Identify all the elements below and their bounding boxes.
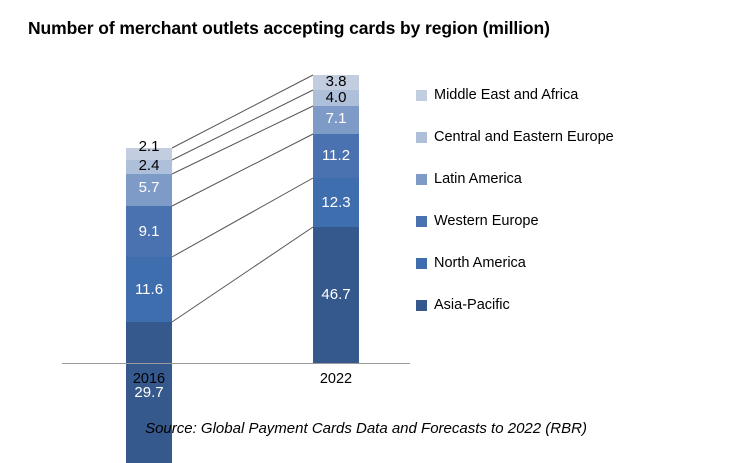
bar-segment-north-america[interactable]: 11.6 (126, 257, 172, 322)
axis-category-label-2022: 2022 (291, 371, 381, 387)
bar-segment-value: 2.4 (126, 158, 172, 173)
bar-stack-2022[interactable]: 3.8 4.0 7.1 11.2 12.3 46.7 (313, 75, 359, 363)
legend-swatch-icon (416, 300, 427, 311)
bar-segment-latin-america[interactable]: 7.1 (313, 106, 359, 134)
axis-category-label-2016: 2016 (104, 371, 194, 387)
bar-segment-central-and-eastern-europe[interactable]: 2.4 (126, 160, 172, 174)
bar-segment-western-europe[interactable]: 9.1 (126, 206, 172, 257)
legend-item-latin-america[interactable]: Latin America (416, 172, 614, 186)
legend-item-asia-pacific[interactable]: Asia-Pacific (416, 298, 614, 312)
bar-segment-value: 11.2 (313, 148, 359, 163)
legend-item-label: North America (434, 255, 526, 271)
bar-segment-latin-america[interactable]: 5.7 (126, 174, 172, 206)
legend-item-label: Middle East and Africa (434, 87, 578, 103)
stacked-bar-chart: Number of merchant outlets accepting car… (0, 0, 732, 454)
bar-stack-2016[interactable]: 2.1 2.4 5.7 9.1 11.6 29.7 (126, 148, 172, 463)
legend-swatch-icon (416, 132, 427, 143)
bar-segment-value: 4.0 (313, 90, 359, 105)
chart-legend: Middle East and Africa Central and Easte… (416, 88, 614, 340)
legend-item-label: Central and Eastern Europe (434, 129, 614, 145)
series-connector-lines (0, 0, 732, 400)
bar-segment-middle-east-and-africa[interactable]: 3.8 (313, 75, 359, 90)
bar-segment-value: 9.1 (126, 224, 172, 239)
legend-item-central-and-eastern-europe[interactable]: Central and Eastern Europe (416, 130, 614, 144)
legend-swatch-icon (416, 174, 427, 185)
bar-segment-value: 2.1 (126, 139, 172, 154)
bar-segment-value: 7.1 (313, 111, 359, 126)
bar-segment-north-america[interactable]: 12.3 (313, 178, 359, 227)
bar-segment-value: 3.8 (313, 74, 359, 89)
bar-segment-value: 29.7 (126, 385, 172, 400)
bar-segment-value: 12.3 (313, 195, 359, 210)
bar-segment-western-europe[interactable]: 11.2 (313, 134, 359, 178)
legend-item-north-america[interactable]: North America (416, 256, 614, 270)
source-note: Source: Global Payment Cards Data and Fo… (0, 420, 732, 437)
legend-item-label: Asia-Pacific (434, 297, 510, 313)
category-axis-line (62, 363, 410, 364)
bar-segment-value: 5.7 (126, 180, 172, 195)
plot-area: 2.1 2.4 5.7 9.1 11.6 29.7 3.8 4.0 (0, 0, 732, 400)
bar-segment-value: 11.6 (126, 282, 172, 297)
bar-segment-asia-pacific[interactable]: 46.7 (313, 227, 359, 363)
legend-swatch-icon (416, 216, 427, 227)
bar-segment-asia-pacific[interactable]: 29.7 (126, 322, 172, 463)
legend-swatch-icon (416, 258, 427, 269)
bar-segment-central-and-eastern-europe[interactable]: 4.0 (313, 90, 359, 106)
legend-item-western-europe[interactable]: Western Europe (416, 214, 614, 228)
legend-item-label: Western Europe (434, 213, 539, 229)
legend-swatch-icon (416, 90, 427, 101)
legend-item-middle-east-and-africa[interactable]: Middle East and Africa (416, 88, 614, 102)
bar-segment-value: 46.7 (313, 287, 359, 302)
legend-item-label: Latin America (434, 171, 522, 187)
